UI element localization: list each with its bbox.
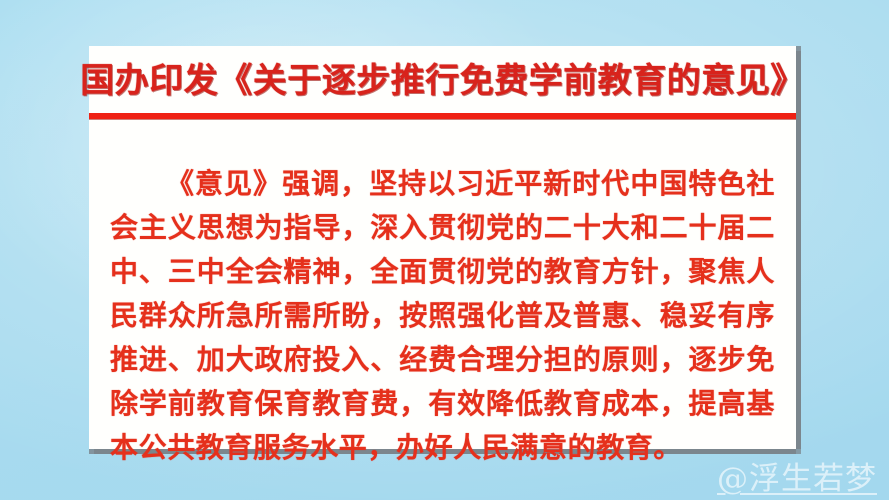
page-title: 国办印发《关于逐步推行免费学前教育的意见》: [80, 63, 805, 100]
title-area: 国办印发《关于逐步推行免费学前教育的意见》: [89, 46, 796, 118]
body-paragraph: 《意见》强调，坚持以习近平新时代中国特色社会主义思想为指导，深入贯彻党的二十大和…: [110, 162, 775, 470]
slide-canvas: 国办印发《关于逐步推行免费学前教育的意见》 《意见》强调，坚持以习近平新时代中国…: [0, 0, 889, 500]
title-divider-rule: [89, 113, 796, 119]
watermark: @浮生若梦: [717, 460, 877, 498]
body-area: 《意见》强调，坚持以习近平新时代中国特色社会主义思想为指导，深入贯彻党的二十大和…: [110, 134, 775, 498]
content-card: 国办印发《关于逐步推行免费学前教育的意见》 《意见》强调，坚持以习近平新时代中国…: [89, 46, 796, 449]
